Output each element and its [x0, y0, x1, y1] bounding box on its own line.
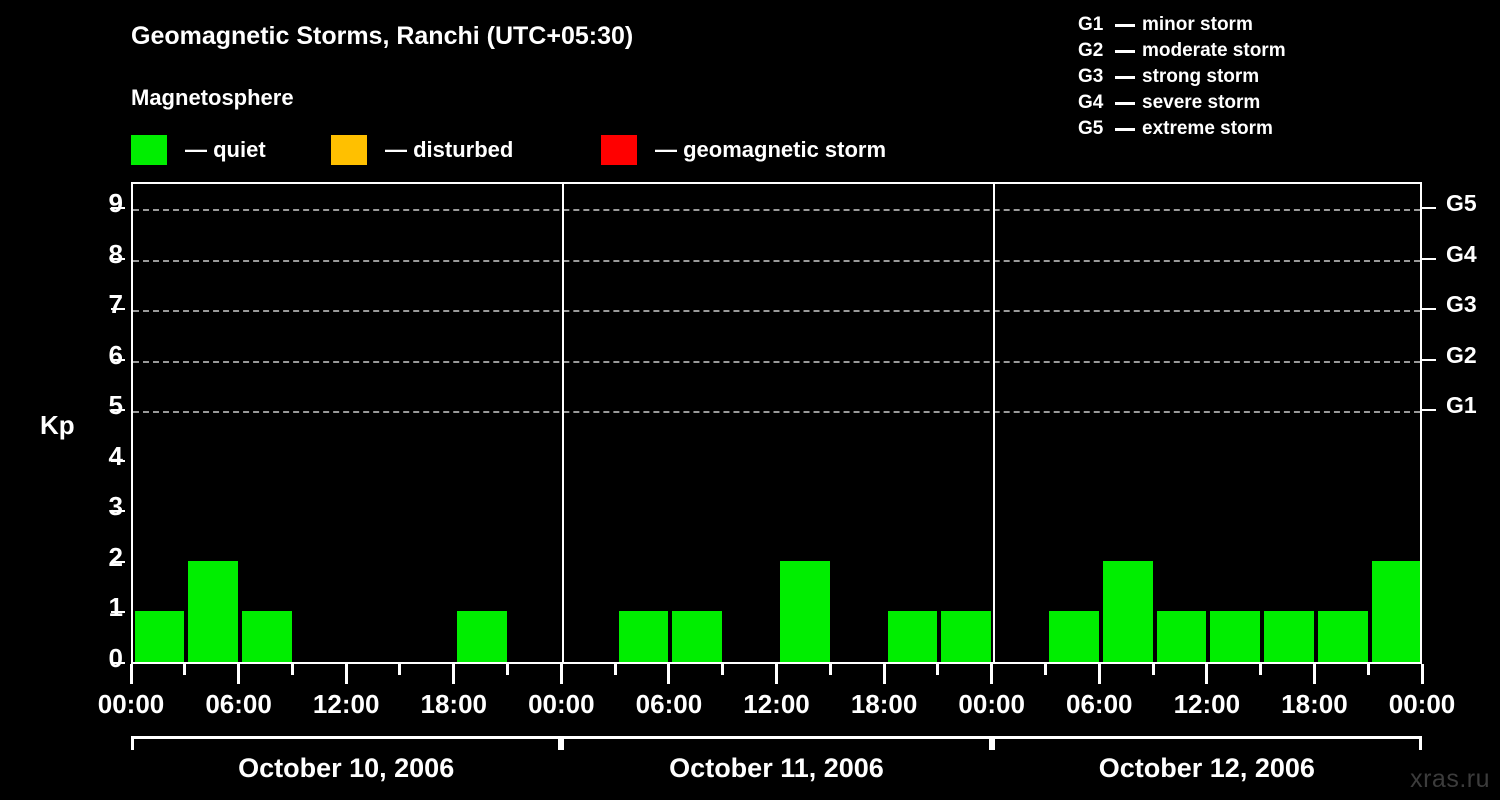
y-axis-right: G1G2G3G4G5	[1422, 0, 1500, 800]
g-scale-dash-icon	[1115, 128, 1135, 131]
legend-item-label: — disturbed	[385, 139, 513, 161]
g-scale-row: G4severe storm	[1078, 90, 1286, 116]
g-scale-description: severe storm	[1142, 92, 1260, 114]
x-tick-minor	[1152, 664, 1155, 675]
legend-item: — geomagnetic storm	[601, 133, 886, 167]
g-axis-tick-label: G5	[1446, 192, 1477, 215]
y-tick-mark	[111, 460, 125, 462]
x-tick-minor	[398, 664, 401, 675]
y-axis-left: 0123456789	[55, 0, 123, 800]
y-tick-label: 3	[87, 493, 123, 519]
series-heading: Magnetosphere	[131, 85, 294, 111]
g-scale-dash-icon	[1115, 24, 1135, 27]
x-tick-minor	[936, 664, 939, 675]
g-axis-tick-label: G4	[1446, 243, 1477, 266]
x-tick-major	[775, 664, 778, 684]
day-panel-divider	[993, 184, 995, 662]
y-tick-label: 2	[87, 544, 123, 570]
g-scale-row: G3strong storm	[1078, 64, 1286, 90]
g-scale-code: G4	[1078, 92, 1108, 114]
x-tick-label: 00:00	[528, 689, 595, 720]
y-tick-label: 0	[87, 645, 123, 671]
kp-bar	[1157, 611, 1207, 662]
x-tick-major	[1205, 664, 1208, 684]
g-axis-tick-mark	[1422, 207, 1436, 209]
y-tick-label: 5	[87, 392, 123, 418]
g-scale-dash-icon	[1115, 50, 1135, 53]
y-tick-label: 6	[87, 342, 123, 368]
x-tick-label: 12:00	[1174, 689, 1241, 720]
y-tick-mark	[111, 561, 125, 563]
x-tick-major	[1421, 664, 1424, 684]
x-tick-label: 06:00	[1066, 689, 1133, 720]
x-tick-major	[667, 664, 670, 684]
x-tick-minor	[829, 664, 832, 675]
x-tick-label: 00:00	[958, 689, 1025, 720]
x-tick-label: 06:00	[636, 689, 703, 720]
x-tick-label: 12:00	[743, 689, 810, 720]
g-scale-description: extreme storm	[1142, 118, 1273, 140]
kp-bar	[780, 561, 830, 662]
x-tick-major	[883, 664, 886, 684]
kp-bar	[619, 611, 669, 662]
x-tick-label: 18:00	[1281, 689, 1348, 720]
y-tick-label: 4	[87, 443, 123, 469]
g-scale-code: G5	[1078, 118, 1108, 140]
x-tick-minor	[1044, 664, 1047, 675]
g-scale-description: moderate storm	[1142, 40, 1286, 62]
g-scale-row: G2moderate storm	[1078, 38, 1286, 64]
gridline	[133, 209, 1420, 211]
g-scale-description: minor storm	[1142, 14, 1253, 36]
date-label: October 11, 2006	[669, 753, 884, 784]
kp-bar	[1210, 611, 1260, 662]
x-tick-major	[452, 664, 455, 684]
kp-bar	[135, 611, 185, 662]
x-tick-label: 18:00	[421, 689, 488, 720]
date-bracket	[131, 736, 561, 750]
x-tick-label: 12:00	[313, 689, 380, 720]
x-tick-major	[130, 664, 133, 684]
y-axis-title: Kp	[40, 410, 75, 441]
x-tick-label: 06:00	[205, 689, 272, 720]
kp-bar	[1318, 611, 1368, 662]
page-title: Geomagnetic Storms, Ranchi (UTC+05:30)	[131, 22, 633, 51]
y-tick-label: 7	[87, 291, 123, 317]
kp-bar	[1372, 561, 1422, 662]
gridline	[133, 411, 1420, 413]
g-scale-code: G3	[1078, 66, 1108, 88]
x-tick-minor	[291, 664, 294, 675]
date-label: October 12, 2006	[1099, 753, 1315, 784]
x-tick-minor	[1259, 664, 1262, 675]
gridline	[133, 310, 1420, 312]
g-axis-tick-label: G2	[1446, 344, 1477, 367]
y-tick-label: 8	[87, 241, 123, 267]
x-tick-major	[1098, 664, 1101, 684]
x-tick-minor	[614, 664, 617, 675]
y-tick-mark	[111, 510, 125, 512]
kp-bar	[941, 611, 991, 662]
x-tick-minor	[506, 664, 509, 675]
g-scale-row: G1minor storm	[1078, 12, 1286, 38]
g-axis-tick-mark	[1422, 258, 1436, 260]
g-axis-tick-mark	[1422, 409, 1436, 411]
g-scale-dash-icon	[1115, 76, 1135, 79]
legend-item: — disturbed	[331, 133, 513, 167]
x-tick-minor	[721, 664, 724, 675]
g-axis-tick-label: G1	[1446, 394, 1477, 417]
date-label: October 10, 2006	[238, 753, 454, 784]
legend-item: — quiet	[131, 133, 266, 167]
watermark: xras.ru	[1410, 765, 1490, 794]
gridline	[133, 361, 1420, 363]
g-scale-code: G1	[1078, 14, 1108, 36]
g-scale-legend: G1minor stormG2moderate stormG3strong st…	[1078, 12, 1286, 142]
date-bracket	[992, 736, 1422, 750]
y-tick-mark	[111, 359, 125, 361]
quiet-swatch	[131, 135, 167, 165]
kp-bar	[1049, 611, 1099, 662]
x-tick-major	[237, 664, 240, 684]
x-tick-minor	[183, 664, 186, 675]
x-tick-major	[560, 664, 563, 684]
legend-item-label: — geomagnetic storm	[655, 139, 886, 161]
x-tick-major	[1313, 664, 1316, 684]
kp-bar	[1264, 611, 1314, 662]
day-panel-divider	[562, 184, 564, 662]
g-axis-tick-label: G3	[1446, 293, 1477, 316]
disturbed-swatch	[331, 135, 367, 165]
y-tick-label: 1	[87, 594, 123, 620]
x-tick-label: 18:00	[851, 689, 918, 720]
g-scale-dash-icon	[1115, 102, 1135, 105]
x-tick-major	[990, 664, 993, 684]
y-tick-mark	[111, 207, 125, 209]
kp-bar	[457, 611, 507, 662]
chart-root: Geomagnetic Storms, Ranchi (UTC+05:30) M…	[0, 0, 1500, 800]
kp-bar	[888, 611, 938, 662]
x-tick-label: 00:00	[98, 689, 165, 720]
plot-area	[131, 182, 1422, 664]
y-tick-mark	[111, 308, 125, 310]
date-bracket	[561, 736, 991, 750]
g-axis-tick-mark	[1422, 359, 1436, 361]
x-tick-minor	[1367, 664, 1370, 675]
kp-bar	[1103, 561, 1153, 662]
x-tick-major	[345, 664, 348, 684]
y-tick-mark	[111, 409, 125, 411]
y-tick-label: 9	[87, 190, 123, 216]
kp-bar	[672, 611, 722, 662]
g-scale-description: strong storm	[1142, 66, 1259, 88]
legend-item-label: — quiet	[185, 139, 266, 161]
kp-bar	[242, 611, 292, 662]
g-scale-row: G5extreme storm	[1078, 116, 1286, 142]
y-tick-mark	[111, 258, 125, 260]
g-scale-code: G2	[1078, 40, 1108, 62]
gridline	[133, 260, 1420, 262]
g-axis-tick-mark	[1422, 308, 1436, 310]
x-tick-label: 00:00	[1389, 689, 1456, 720]
kp-bar	[188, 561, 238, 662]
storm-swatch	[601, 135, 637, 165]
y-tick-mark	[111, 662, 125, 664]
y-tick-mark	[111, 611, 125, 613]
